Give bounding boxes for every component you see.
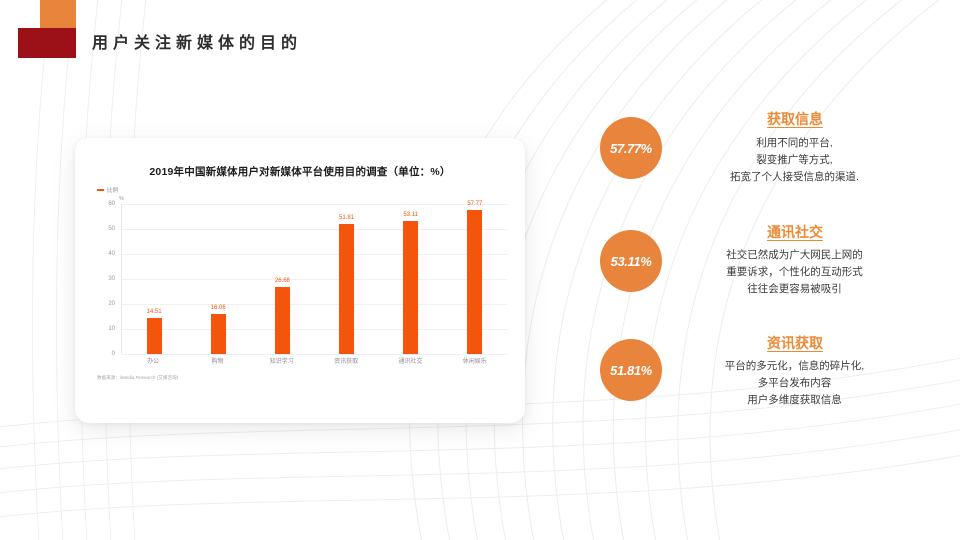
chart-source-note: 数据来源：iiMedia Research (艾媒咨询)	[97, 375, 178, 381]
bar-value-label: 57.77	[467, 201, 482, 207]
bar-column: 14.51	[123, 204, 185, 354]
y-axis-tick: 10	[108, 326, 115, 332]
chart-plot-area: 6050403020100 14.5116.0626.6851.8153.115…	[97, 204, 507, 376]
bar-column: 57.77	[444, 204, 506, 354]
insight-heading: 获取信息	[670, 109, 920, 129]
y-axis-unit-label: %	[119, 196, 124, 202]
bar-column: 26.68	[252, 204, 314, 354]
x-axis-tick-label: 资讯获取	[315, 356, 377, 365]
y-axis-tick: 50	[108, 226, 115, 232]
percent-badge: 53.11%	[600, 230, 662, 292]
bar	[211, 314, 226, 354]
bar-series: 14.5116.0626.6851.8153.1157.77	[122, 204, 507, 354]
bar-column: 16.06	[187, 204, 249, 354]
bar-value-label: 14.51	[147, 309, 162, 315]
chart-legend: 比例	[97, 186, 118, 194]
bar-value-label: 51.81	[339, 215, 354, 221]
insight-heading: 资讯获取	[670, 333, 920, 353]
bar	[275, 287, 290, 354]
insight-line: 往往会更容易被吸引	[662, 281, 927, 298]
insight-line: 社交已然成为广大网民上网的	[662, 247, 927, 264]
insight-block: 51.81% 资讯获取 平台的多元化，信息的碎片化, 多平台发布内容 用户多维度…	[600, 325, 960, 440]
bar-value-label: 16.06	[211, 305, 226, 311]
insights-panel: 57.77% 获取信息 利用不同的平台, 裂变推广等方式, 拓宽了个人接受信息的…	[600, 95, 960, 440]
x-axis-labels: 办公购物知识学习资讯获取通讯社交休闲娱乐	[121, 356, 507, 365]
page-title: 用户关注新媒体的目的	[92, 29, 302, 53]
insight-line: 重要诉求，个性化的互动形式	[662, 264, 927, 281]
chart-grid: 14.5116.0626.6851.8153.1157.77	[121, 204, 507, 354]
x-axis-tick-label: 办公	[122, 356, 184, 365]
chart-title: 2019年中国新媒体用户对新媒体平台使用目的调查（单位：%）	[75, 164, 525, 179]
x-axis-tick-label: 购物	[187, 356, 249, 365]
insight-line: 平台的多元化，信息的碎片化,	[662, 358, 927, 375]
chart-card: 2019年中国新媒体用户对新媒体平台使用目的调查（单位：%） 比例 % 6050…	[75, 138, 525, 423]
insight-heading: 通讯社交	[670, 222, 920, 242]
bar-column: 51.81	[316, 204, 378, 354]
x-axis-tick-label: 知识学习	[251, 356, 313, 365]
bar-column: 53.11	[380, 204, 442, 354]
insight-body: 社交已然成为广大网民上网的 重要诉求，个性化的互动形式 往往会更容易被吸引	[662, 247, 927, 298]
insight-line: 拓宽了个人接受信息的渠道.	[662, 169, 927, 186]
insight-line: 多平台发布内容	[662, 375, 927, 392]
y-axis-tick: 40	[108, 251, 115, 257]
x-axis-tick-label: 通讯社交	[380, 356, 442, 365]
y-axis-tick: 60	[108, 201, 115, 207]
insight-line: 利用不同的平台,	[662, 135, 927, 152]
legend-swatch-icon	[97, 189, 104, 191]
bar	[467, 210, 482, 354]
header-accent-red	[18, 28, 76, 58]
y-axis-ticks: 6050403020100	[97, 204, 119, 354]
y-axis-tick: 20	[108, 301, 115, 307]
insight-body: 利用不同的平台, 裂变推广等方式, 拓宽了个人接受信息的渠道.	[662, 135, 927, 186]
insight-body: 平台的多元化，信息的碎片化, 多平台发布内容 用户多维度获取信息	[662, 358, 927, 409]
insight-line: 裂变推广等方式,	[662, 152, 927, 169]
bar	[339, 224, 354, 354]
insight-line: 用户多维度获取信息	[662, 392, 927, 409]
percent-badge: 57.77%	[600, 117, 662, 179]
insight-block: 57.77% 获取信息 利用不同的平台, 裂变推广等方式, 拓宽了个人接受信息的…	[600, 95, 960, 210]
bar-value-label: 53.11	[403, 212, 418, 218]
percent-badge: 51.81%	[600, 339, 662, 401]
grid-line	[122, 354, 507, 355]
x-axis-tick-label: 休闲娱乐	[444, 356, 506, 365]
insight-block: 53.11% 通讯社交 社交已然成为广大网民上网的 重要诉求，个性化的互动形式 …	[600, 210, 960, 325]
page-header: 用户关注新媒体的目的	[0, 0, 960, 70]
legend-label: 比例	[107, 186, 118, 194]
bar-value-label: 26.68	[275, 278, 290, 284]
y-axis-tick: 0	[112, 351, 115, 357]
y-axis-tick: 30	[108, 276, 115, 282]
bar	[403, 221, 418, 354]
bar	[147, 318, 162, 354]
